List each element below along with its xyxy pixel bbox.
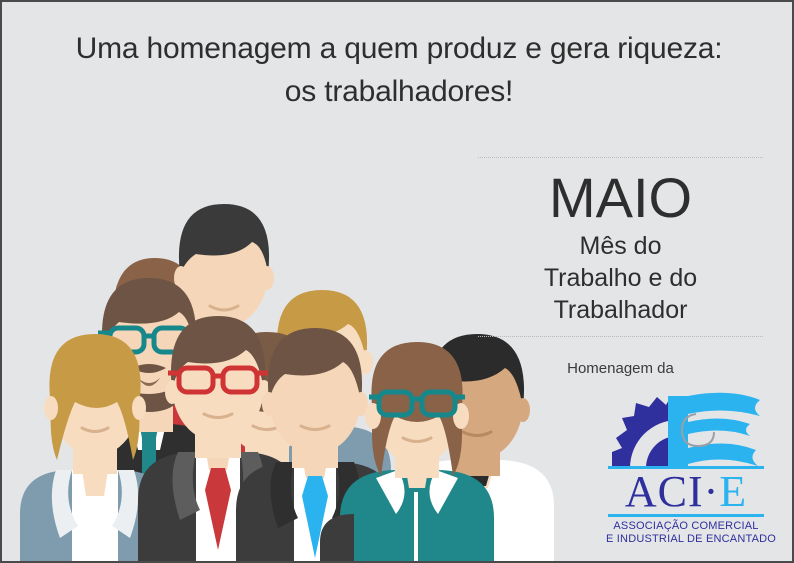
acie-tagline-line-2: E INDUSTRIAL DE ENCANTADO: [606, 533, 766, 546]
poster-canvas: Uma homenagem a quem produz e gera rique…: [0, 0, 794, 563]
acie-tagline-line-1: ASSOCIAÇÃO COMERCIAL: [606, 520, 766, 533]
month-subtitle: Mês do Trabalho e do Trabalhador: [478, 230, 763, 326]
acie-letters: ACI·E: [606, 469, 766, 514]
acie-tagline: ASSOCIAÇÃO COMERCIAL E INDUSTRIAL DE ENC…: [606, 517, 766, 546]
flag-e-icon: [668, 393, 760, 468]
letter-i: I: [688, 467, 704, 516]
acie-wordmark: ACI·E ASSOCIAÇÃO COMERCIAL E INDUSTRIAL …: [606, 466, 766, 546]
month-subtitle-line-1: Mês do: [478, 230, 763, 262]
headline-line-2: os trabalhadores!: [2, 71, 794, 114]
divider-top: [478, 157, 763, 159]
month-title: MAIO: [478, 170, 763, 226]
credit-label: Homenagem da: [478, 360, 763, 377]
letter-dot: ·: [704, 467, 720, 516]
month-subtitle-line-2: Trabalho e do: [478, 262, 763, 294]
letter-e: E: [719, 467, 747, 516]
month-subtitle-line-3: Trabalhador: [478, 294, 763, 326]
divider-bottom: [478, 336, 763, 338]
headline-line-1: Uma homenagem a quem produz e gera rique…: [2, 28, 794, 71]
letter-a: A: [625, 467, 658, 516]
page-title: Uma homenagem a quem produz e gera rique…: [2, 28, 794, 113]
letter-c: C: [658, 467, 688, 516]
acie-logo: ACI·E ASSOCIAÇÃO COMERCIAL E INDUSTRIAL …: [600, 390, 772, 542]
gear-flag-emblem-icon: [600, 390, 772, 472]
